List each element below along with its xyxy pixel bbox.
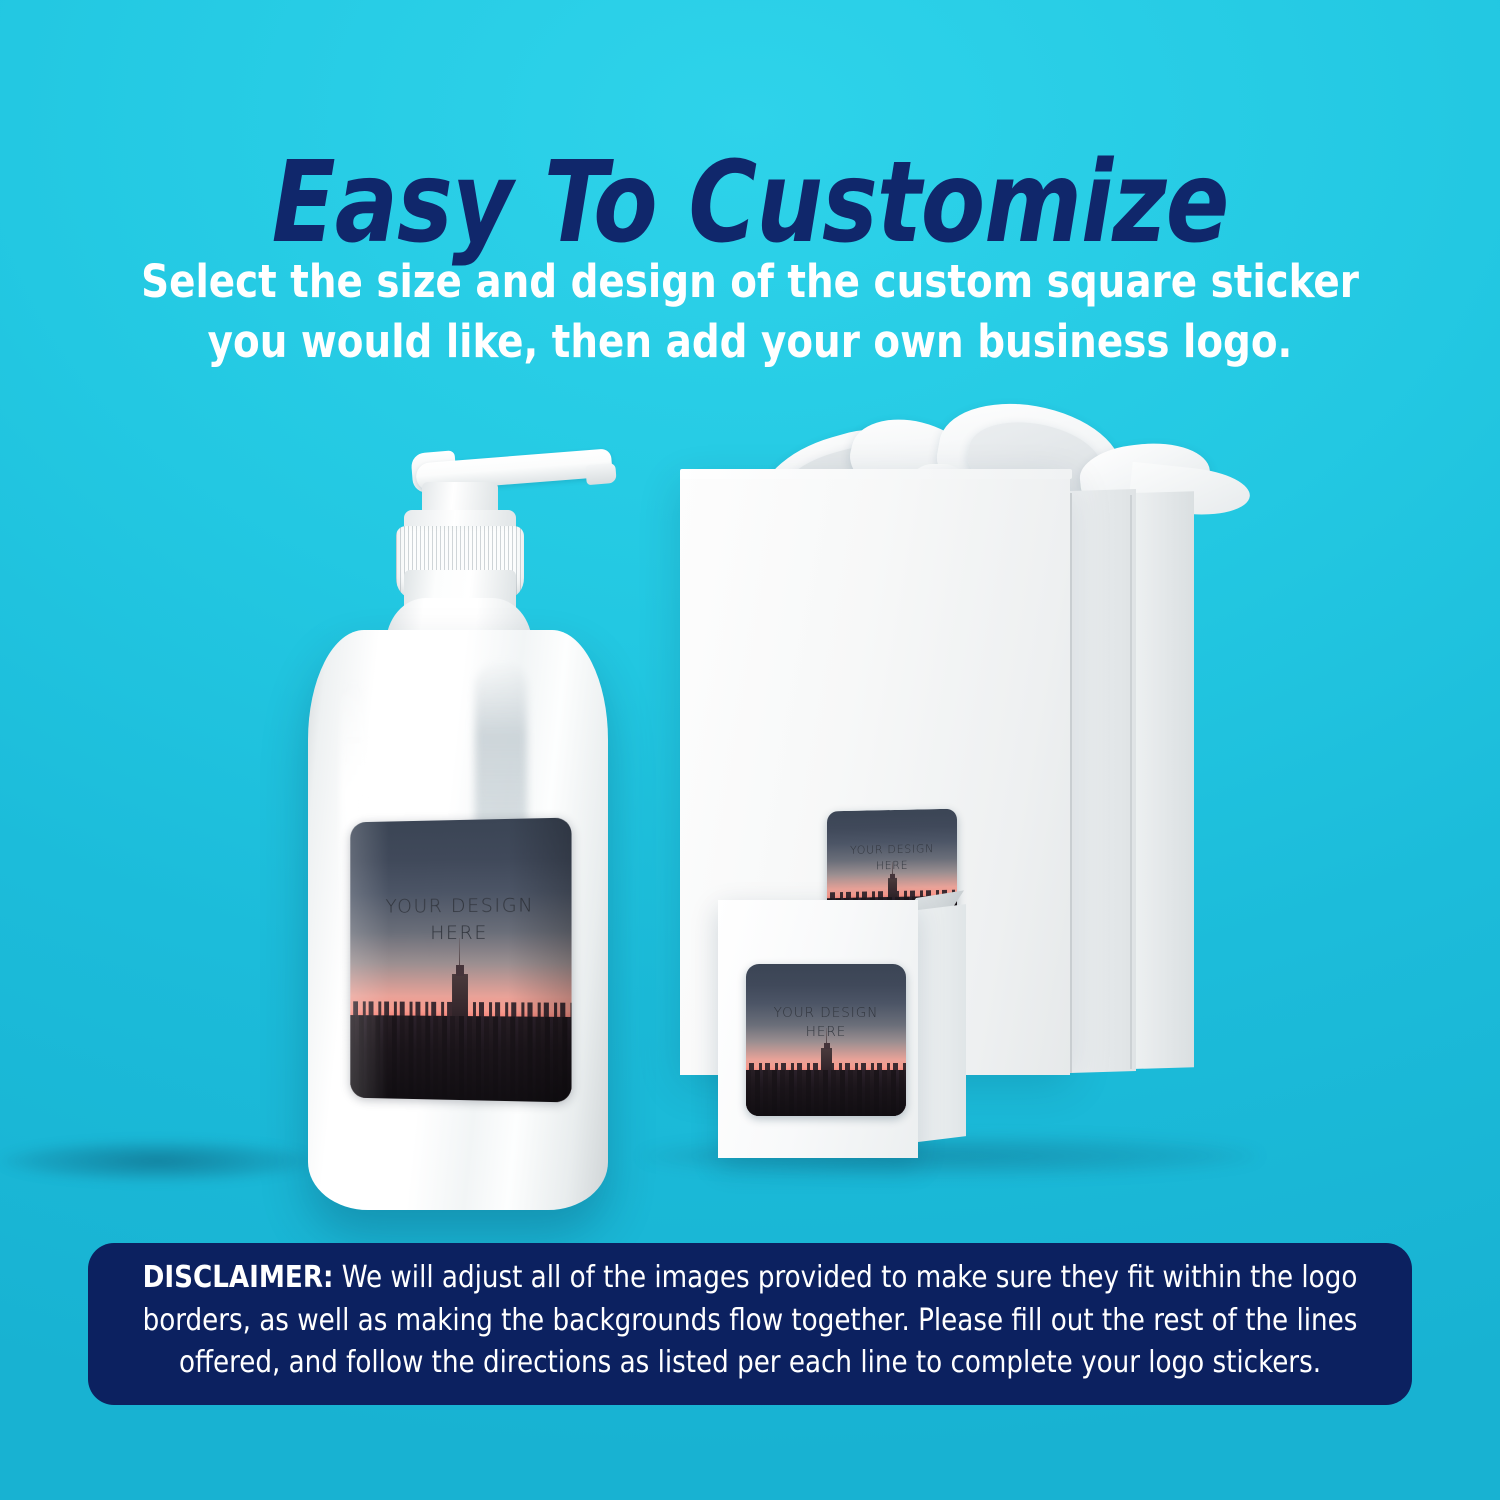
disclaimer-panel: DISCLAIMER: We will adjust all of the im… — [88, 1243, 1412, 1405]
sticker-caption: YOUR DESIGN HERE — [827, 841, 957, 876]
bottle-shadow — [0, 1140, 316, 1182]
small-box-side — [918, 904, 966, 1142]
sticker-on-small-box: YOUR DESIGN HERE — [746, 964, 906, 1116]
sticker-caption-line-1: YOUR DESIGN — [350, 892, 571, 921]
disclaimer-label: DISCLAIMER: — [143, 1260, 334, 1295]
gift-box-seam — [1070, 493, 1072, 1073]
disclaimer-text: DISCLAIMER: We will adjust all of the im… — [141, 1257, 1359, 1385]
small-product-box: YOUR DESIGN HERE — [718, 890, 984, 1160]
gift-box-top-rim — [680, 469, 1072, 479]
sticker-caption-line-2: HERE — [746, 1023, 906, 1043]
product-scene: YOUR DESIGN HERE YOUR DESI — [0, 380, 1500, 1220]
sticker-artwork — [350, 818, 571, 1103]
gift-box-side — [1070, 489, 1136, 1073]
lotion-bottle: YOUR DESIGN HERE — [300, 430, 620, 1230]
promo-banner: Easy To Customize Select the size and de… — [0, 0, 1500, 1500]
page-title: Easy To Customize — [53, 147, 1448, 259]
gift-box-side-back — [1132, 491, 1194, 1069]
sticker-on-bottle: YOUR DESIGN HERE — [350, 818, 571, 1103]
sticker-caption: YOUR DESIGN HERE — [350, 892, 571, 948]
subtitle-line-1: Select the size and design of the custom… — [141, 255, 1359, 308]
sticker-caption-line-2: HERE — [827, 857, 957, 876]
subtitle: Select the size and design of the custom… — [136, 252, 1365, 373]
sticker-caption-line-2: HERE — [350, 920, 571, 948]
subtitle-line-2: you would like, then add your own busine… — [136, 312, 1365, 372]
pump-nozzle-tip — [585, 463, 616, 485]
sticker-caption-line-1: YOUR DESIGN — [746, 1004, 906, 1024]
sticker-caption: YOUR DESIGN HERE — [746, 1004, 906, 1043]
gift-box-seam-back — [1130, 495, 1132, 1069]
